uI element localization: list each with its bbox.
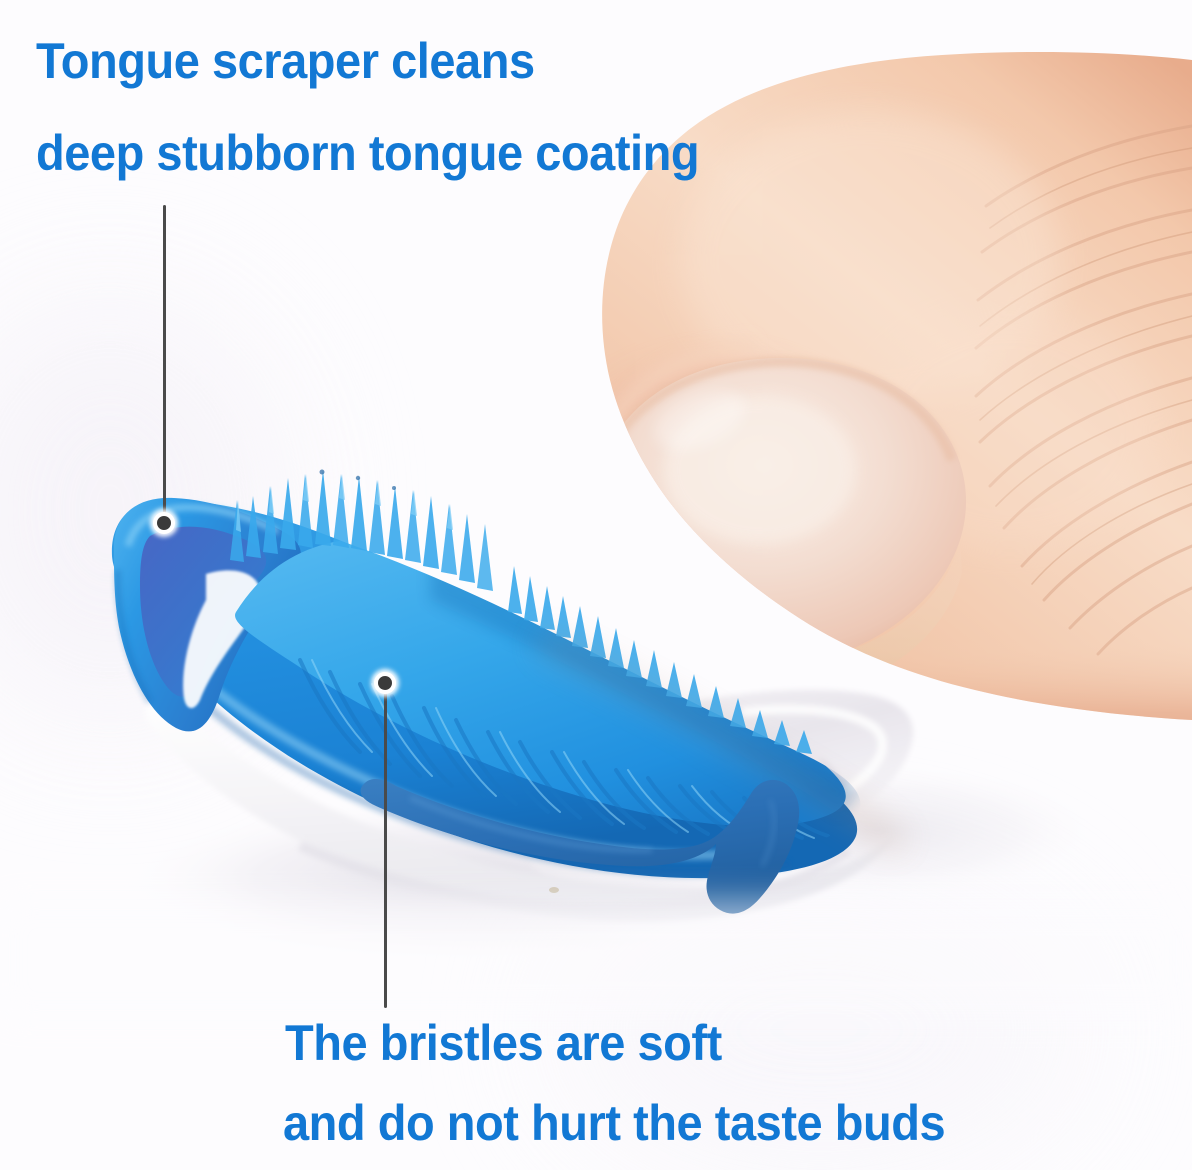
callout-scraper-leader-line — [163, 205, 166, 525]
callout-bristles-leader-line — [384, 690, 387, 1008]
callout-scraper-line-1: Tongue scraper cleans — [36, 36, 535, 86]
callout-scraper-leader-dot — [153, 512, 175, 534]
callout-bristles-line-2: and do not hurt the taste buds — [283, 1098, 945, 1148]
callout-bristles-line-1: The bristles are soft — [285, 1018, 722, 1068]
bottom-fade — [0, 900, 1192, 1020]
product-callout-image: Tongue scraper cleans deep stubborn tong… — [0, 0, 1192, 1170]
callout-scraper-line-2: deep stubborn tongue coating — [36, 128, 699, 178]
callout-bristles-leader-dot — [374, 672, 396, 694]
